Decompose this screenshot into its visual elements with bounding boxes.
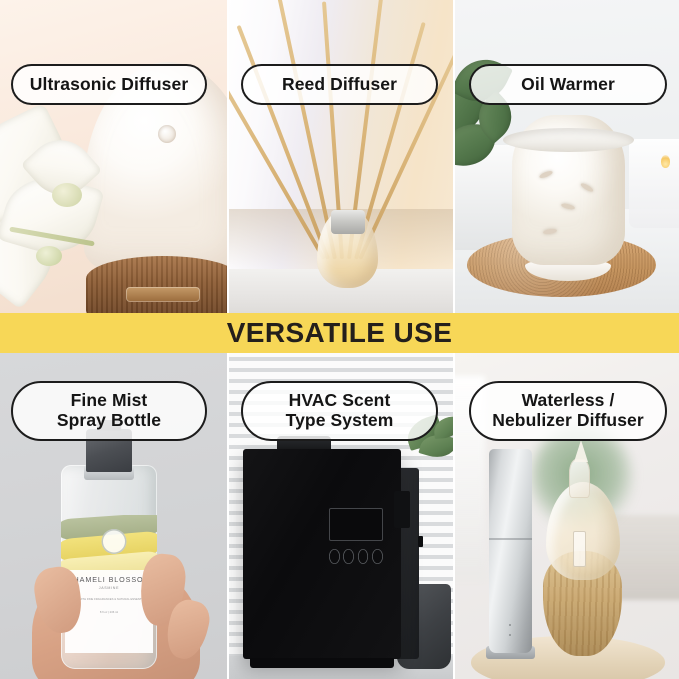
device-button-row[interactable] bbox=[329, 549, 383, 564]
device-button-4[interactable] bbox=[372, 549, 383, 564]
diffuser-inner-tube bbox=[573, 531, 587, 567]
product-name: CHAMELI BLOSSOM bbox=[67, 575, 150, 584]
panel-ultrasonic-diffuser bbox=[0, 0, 227, 316]
device-button-3[interactable] bbox=[358, 549, 369, 564]
panel-reed-diffuser bbox=[227, 0, 453, 316]
label-oil-warmer: Oil Warmer bbox=[469, 64, 667, 105]
versatile-use-infographic: VERSATILE USE CHAMELI BLOSSOM JASMINE BL… bbox=[0, 0, 679, 679]
product-variant: JASMINE bbox=[99, 586, 119, 590]
reed-diffuser-cap bbox=[331, 210, 365, 234]
candle-jar bbox=[629, 139, 679, 227]
device-button-1[interactable] bbox=[329, 549, 340, 564]
diffuser-glass-neck bbox=[569, 459, 589, 498]
ultrasonic-diffuser-photo bbox=[0, 0, 227, 316]
lily-bud-icon bbox=[36, 246, 62, 266]
diffuser-glass-tip bbox=[574, 440, 588, 462]
label-hvac-scent-type-system: HVAC Scent Type System bbox=[241, 381, 438, 441]
device-side-button[interactable] bbox=[418, 536, 423, 547]
product-size: 8 fl oz | 236 ml bbox=[100, 610, 118, 614]
reed-diffuser-photo bbox=[227, 0, 453, 316]
banner-title: VERSATILE USE bbox=[227, 317, 453, 349]
device-foot bbox=[250, 658, 395, 668]
device-side-vent bbox=[394, 491, 410, 527]
device-display-screen bbox=[329, 508, 383, 541]
label-fine-mist-spray-bottle: Fine Mist Spray Bottle bbox=[11, 381, 207, 441]
panel-oil-warmer bbox=[453, 0, 679, 316]
top-panel-row bbox=[0, 0, 679, 316]
brand-droplet-icon bbox=[101, 529, 126, 554]
device-button-2[interactable] bbox=[343, 549, 354, 564]
label-ultrasonic-diffuser: Ultrasonic Diffuser bbox=[11, 64, 207, 105]
silver-nebulizer-body bbox=[489, 449, 532, 653]
diffuser-wood-base bbox=[86, 256, 227, 316]
warmer-oil-dish bbox=[503, 128, 634, 152]
label-reed-diffuser: Reed Diffuser bbox=[241, 64, 438, 105]
oil-warmer-photo bbox=[453, 0, 679, 316]
label-waterless-nebulizer-diffuser: Waterless / Nebulizer Diffuser bbox=[469, 381, 667, 441]
versatile-use-banner: VERSATILE USE bbox=[0, 313, 679, 353]
flame-icon bbox=[661, 155, 670, 168]
